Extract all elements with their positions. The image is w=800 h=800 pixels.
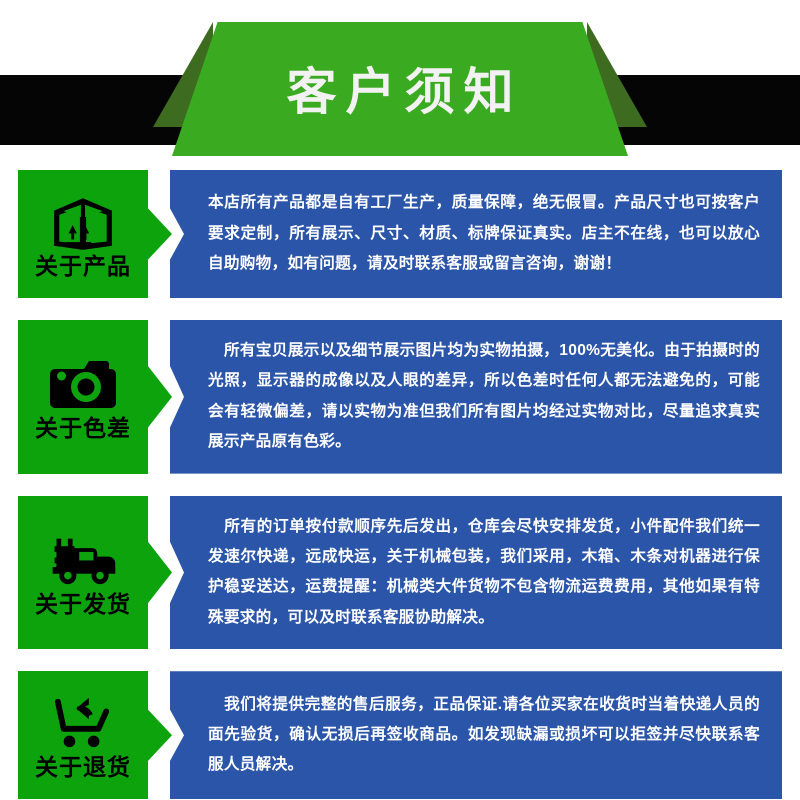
notice-text-return: 我们将提供完整的售后服务，正品保证.请各位买家在收货时当着快递人员的面先验货，确…: [208, 690, 760, 781]
notice-section-shipping: 关于发货 所有的订单按付款顺序先后发出，仓库会尽快安排发货，小件配件我们统一发速…: [0, 496, 800, 650]
notice-text-product: 本店所有产品都是自有工厂生产，质量保障，绝无假冒。产品尺寸也可按客户要求定制，所…: [208, 188, 760, 279]
notice-section-return: 关于退货 我们将提供完整的售后服务，正品保证.请各位买家在收货时当着快递人员的面…: [0, 671, 800, 799]
icon-label-product: 关于产品: [35, 255, 131, 278]
forklift-truck-icon: [47, 529, 119, 591]
text-panel-color: 所有宝贝展示以及细节展示图片均为实物拍摄，100%无美化。由于拍摄时的光照，显示…: [170, 320, 782, 474]
arrow-tip-color: [148, 320, 172, 474]
notice-sections: 关于产品 本店所有产品都是自有工厂生产，质量保障，绝无假冒。产品尺寸也可按客户要…: [0, 170, 800, 799]
icon-label-return: 关于退货: [35, 756, 131, 779]
arrow-tip-shipping: [148, 496, 172, 650]
page-title: 客户须知: [278, 67, 523, 117]
return-cart-icon: [47, 692, 119, 754]
icon-box-product[interactable]: 关于产品: [18, 170, 148, 298]
icon-box-color[interactable]: 关于色差: [18, 320, 148, 474]
camera-icon: [47, 353, 119, 415]
notice-text-color: 所有宝贝展示以及细节展示图片均为实物拍摄，100%无美化。由于拍摄时的光照，显示…: [208, 336, 760, 458]
icon-box-return[interactable]: 关于退货: [18, 671, 148, 799]
arrow-tip-return: [148, 671, 172, 799]
icon-label-shipping: 关于发货: [35, 593, 131, 616]
notice-section-color: 关于色差 所有宝贝展示以及细节展示图片均为实物拍摄，100%无美化。由于拍摄时的…: [0, 320, 800, 474]
arrow-tip-product: [148, 170, 172, 298]
notice-text-shipping: 所有的订单按付款顺序先后发出，仓库会尽快安排发货，小件配件我们统一发速尔快递，远…: [208, 512, 760, 634]
text-panel-product: 本店所有产品都是自有工厂生产，质量保障，绝无假冒。产品尺寸也可按客户要求定制，所…: [170, 170, 782, 298]
notice-section-product: 关于产品 本店所有产品都是自有工厂生产，质量保障，绝无假冒。产品尺寸也可按客户要…: [0, 170, 800, 298]
ribbon-face: 客户须知: [172, 22, 628, 156]
carton-box-icon: [47, 191, 119, 253]
icon-label-color: 关于色差: [35, 417, 131, 440]
icon-box-shipping[interactable]: 关于发货: [18, 496, 148, 650]
text-panel-return: 我们将提供完整的售后服务，正品保证.请各位买家在收货时当着快递人员的面先验货，确…: [170, 671, 782, 799]
header-banner: 客户须知: [0, 0, 800, 170]
text-panel-shipping: 所有的订单按付款顺序先后发出，仓库会尽快安排发货，小件配件我们统一发速尔快递，远…: [170, 496, 782, 650]
